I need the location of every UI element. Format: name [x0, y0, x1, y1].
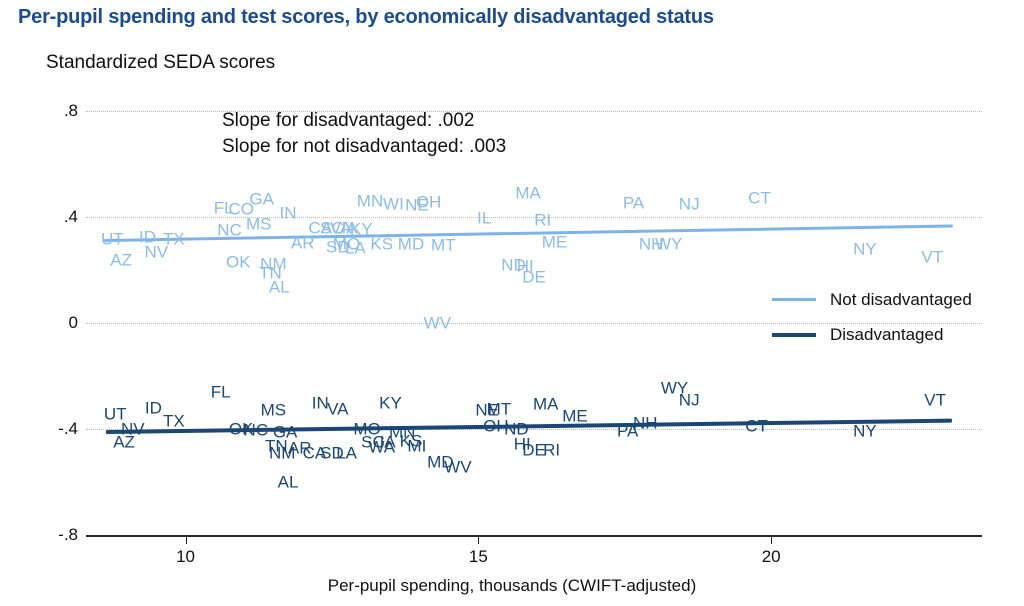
data-point-label: FL: [211, 383, 231, 400]
y-tick-label: -.4: [34, 419, 78, 439]
y-tick-label: -.8: [34, 525, 78, 545]
data-point-label: VA: [327, 401, 348, 418]
data-point-label: KS: [370, 235, 393, 252]
data-point-label: UT: [101, 230, 124, 247]
data-point-label: OK: [226, 253, 251, 270]
data-point-label: NJ: [679, 392, 700, 409]
data-point-label: DE: [522, 268, 546, 285]
data-point-label: LA: [336, 445, 357, 462]
legend-label-disadvantaged: Disadvantaged: [830, 325, 943, 345]
legend-item-not-disadvantaged[interactable]: Not disadvantaged: [772, 282, 1012, 317]
y-tick-label: 0: [34, 313, 78, 333]
data-point-label: WI: [383, 195, 404, 212]
data-point-label: VT: [924, 392, 946, 409]
data-point-label: TX: [163, 413, 185, 430]
x-axis-line: [86, 535, 982, 537]
x-tick-mark: [186, 537, 187, 544]
slope-disadvantaged-text: Slope for disadvantaged: .002: [222, 108, 506, 134]
data-point-label: MA: [533, 395, 559, 412]
x-tick-mark: [771, 537, 772, 544]
data-point-label: RI: [543, 442, 560, 459]
data-point-label: CT: [745, 418, 768, 435]
data-point-label: ME: [542, 234, 568, 251]
y-tick-label: .8: [34, 101, 78, 121]
data-point-label: RI: [534, 211, 551, 228]
data-point-label: MA: [515, 185, 541, 202]
chart-root: Per-pupil spending and test scores, by e…: [0, 0, 1024, 606]
slope-annotations: Slope for disadvantaged: .002 Slope for …: [222, 108, 506, 159]
data-point-label: CT: [748, 190, 771, 207]
data-point-label: VT: [921, 248, 943, 265]
data-point-label: PA: [623, 195, 644, 212]
legend-item-disadvantaged[interactable]: Disadvantaged: [772, 317, 1012, 352]
data-point-label: AL: [269, 279, 290, 296]
data-point-label: TX: [163, 230, 185, 247]
data-point-label: NJ: [679, 195, 700, 212]
data-point-label: NC: [217, 221, 242, 238]
data-point-label: KY: [379, 394, 402, 411]
data-point-label: MT: [431, 236, 456, 253]
data-point-label: WY: [655, 236, 682, 253]
data-point-label: ME: [562, 408, 588, 425]
gridline-y: [86, 111, 982, 112]
data-point-label: AZ: [110, 252, 132, 269]
legend-label-not-disadvantaged: Not disadvantaged: [830, 290, 972, 310]
data-point-label: WV: [424, 315, 451, 332]
x-tick-label: 10: [164, 547, 208, 567]
data-point-label: ID: [145, 400, 162, 417]
data-point-label: MT: [487, 401, 512, 418]
data-point-label: NY: [853, 240, 877, 257]
data-point-label: MD: [398, 235, 424, 252]
data-point-label: NH: [633, 415, 658, 432]
data-point-label: GA: [249, 190, 274, 207]
legend-line-swatch-not-disadvantaged: [772, 298, 816, 301]
data-point-label: IL: [477, 210, 491, 227]
x-axis-title: Per-pupil spending, thousands (CWIFT-adj…: [0, 576, 1024, 596]
data-point-label: IN: [280, 205, 297, 222]
x-tick-label: 20: [749, 547, 793, 567]
y-tick-label: .4: [34, 207, 78, 227]
x-tick-mark: [478, 537, 479, 544]
slope-not-disadvantaged-text: Slope for not disadvantaged: .003: [222, 134, 506, 160]
legend: Not disadvantaged Disadvantaged: [772, 282, 1012, 352]
data-point-label: LA: [345, 240, 366, 257]
data-point-label: MS: [246, 216, 272, 233]
data-point-label: AZ: [113, 433, 135, 450]
data-point-label: MS: [261, 402, 287, 419]
data-point-label: NY: [853, 423, 877, 440]
legend-line-swatch-disadvantaged: [772, 333, 816, 337]
x-tick-label: 15: [456, 547, 500, 567]
data-point-label: OH: [416, 193, 442, 210]
data-point-label: AL: [278, 474, 299, 491]
data-point-label: WV: [444, 459, 471, 476]
data-point-label: MI: [407, 438, 426, 455]
data-point-label: MN: [357, 193, 383, 210]
